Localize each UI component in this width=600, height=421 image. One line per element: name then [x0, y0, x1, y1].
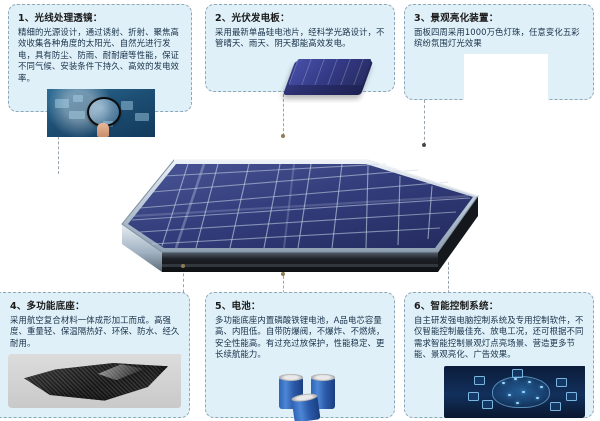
color-wheel-petals	[480, 57, 530, 107]
magnifier-photo	[18, 87, 183, 137]
battery-terminal	[311, 374, 335, 381]
card-1-body: 精细的光源设计，通过诱射、折射、聚焦高效收集各种角度的太阳光、自然光进行发电，具…	[18, 27, 183, 84]
battery-cell	[291, 395, 320, 421]
card-6-body: 自主研发强电脑控制系统及专用控制软件，不仅智能控制最佳充、放电工况，还可根据不同…	[414, 315, 585, 361]
magnifier-photo-canvas	[47, 89, 155, 137]
carbon-fiber-base	[24, 362, 168, 402]
info-card-5[interactable]: 5、电池： 多功能底座内置磷酸铁锂电池，A品电芯容量高、内阻低。自带防爆阀，不爆…	[205, 292, 395, 418]
solar-cell-photo	[215, 53, 386, 103]
info-card-2[interactable]: 2、光伏发电板： 采用最新单晶硅电池片，经科学光路设计，不管晴天、雨天、阴天都能…	[205, 4, 395, 92]
color-wheel-photo-canvas	[414, 54, 585, 110]
hexagonal-solar-panel	[118, 112, 482, 298]
battery-terminal	[279, 374, 303, 381]
neural-network-graphic	[492, 376, 550, 408]
color-wheel-photo	[414, 53, 585, 110]
device-icon	[566, 392, 577, 401]
solar-cell-surface	[288, 59, 371, 85]
device-icon	[468, 392, 479, 401]
color-wheel-frame	[464, 54, 548, 110]
card-5-title: 5、电池：	[215, 300, 386, 313]
device-icon	[512, 369, 523, 378]
device-icon	[550, 402, 561, 411]
anchor-dot-card3	[422, 143, 426, 147]
info-card-4[interactable]: 4、多功能底座： 采用航空复合材料一体成形加工而成。高强度、重量轻、保温隔热好、…	[0, 292, 190, 418]
card-6-title: 6、智能控制系统：	[414, 300, 585, 313]
info-card-3[interactable]: 3、景观亮化装置： 面板四周采用1000万色灯珠，任意变化五彩缤纷氛围灯光效果	[404, 4, 594, 100]
card-2-body: 采用最新单晶硅电池片，经科学光路设计，不管晴天、雨天、阴天都能高效发电。	[215, 27, 386, 50]
card-3-body: 面板四周采用1000万色灯珠，任意变化五彩缤纷氛围灯光效果	[414, 27, 585, 50]
smart-control-photo	[414, 364, 585, 418]
battery-photo	[215, 364, 386, 421]
carbon-base-photo	[0, 352, 181, 408]
card-3-title: 3、景观亮化装置：	[414, 12, 585, 25]
infographic-stage: 1、光线处理透镜： 精细的光源设计，通过诱射、折射、聚焦高效收集各种角度的太阳光…	[0, 0, 600, 418]
solar-panel-svg	[118, 112, 482, 298]
card-2-title: 2、光伏发电板：	[215, 12, 386, 25]
battery-photo-canvas	[215, 365, 386, 421]
card-4-body: 采用航空复合材料一体成形加工而成。高强度、重量轻、保温隔热好、环保、防水、经久耐…	[0, 315, 181, 349]
hand-finger	[97, 123, 109, 137]
card-4-title: 4、多功能底座：	[0, 300, 181, 313]
carbon-base-photo-canvas	[8, 354, 181, 408]
card-1-title: 1、光线处理透镜：	[18, 12, 183, 25]
solar-cell-photo-canvas	[215, 55, 386, 103]
anchor-dot-card4	[181, 264, 185, 268]
smart-control-photo-canvas	[444, 366, 585, 418]
device-icon	[474, 376, 485, 385]
info-card-1[interactable]: 1、光线处理透镜： 精细的光源设计，通过诱射、折射、聚焦高效收集各种角度的太阳光…	[8, 4, 192, 112]
device-icon	[556, 378, 567, 387]
info-card-6[interactable]: 6、智能控制系统： 自主研发强电脑控制系统及专用控制软件，不仅智能控制最佳充、放…	[404, 292, 594, 418]
anchor-dot-card5	[281, 272, 285, 276]
anchor-dot-card2	[281, 134, 285, 138]
color-wheel-icon	[480, 57, 530, 107]
device-icon	[482, 400, 493, 409]
card-5-body: 多功能底座内置磷酸铁锂电池，A品电芯容量高、内阻低。自带防爆阀，不爆炸、不燃烧，…	[215, 315, 386, 361]
